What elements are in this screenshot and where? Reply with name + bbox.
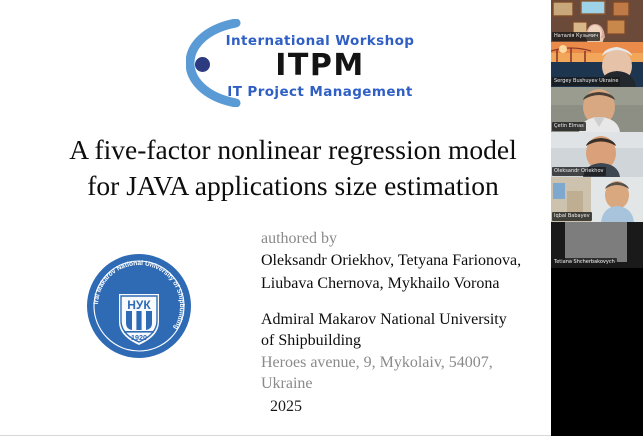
address-line-2: Ukraine [261,373,561,394]
author-names-line-1: Oleksandr Oriekhov, Tetyana Farionova, [261,250,561,271]
participant-name-label: Tetiana Shcherbakovych [552,258,617,267]
presentation-screen-share-view: International Workshop ITPM IT Project M… [0,0,643,436]
svg-text:НУК: НУК [127,298,151,312]
slide-title-line-2: for JAVA applications size estimation [14,168,572,204]
participant-tile[interactable]: Наталія Кузьмич [551,0,643,42]
itpm-dot-icon [195,57,210,72]
participant-name-label: Çetin Elmas [552,122,586,131]
itpm-tagline-bottom: IT Project Management [224,84,416,100]
block-spacer [261,294,561,309]
slide-title-line-1: A five-factor nonlinear regression model [14,132,572,168]
affiliation-line-2: of Shipbuilding [261,330,561,351]
itpm-acronym: ITPM [224,50,416,82]
participant-filmstrip[interactable]: Наталія Кузьмич Sergey Bushuyev Ukraine [551,0,643,268]
presentation-year: 2025 [270,398,302,416]
shared-slide: International Workshop ITPM IT Project M… [0,0,586,436]
author-affiliation-block: authored by Oleksandr Oriekhov, Tetyana … [261,228,561,395]
authored-by-label: authored by [261,228,561,249]
participant-name-label: Наталія Кузьмич [552,32,600,41]
participant-tile[interactable]: Çetin Elmas [551,87,643,132]
participant-name-label: Sergey Bushuyev Ukraine [552,77,620,86]
university-seal-icon: Admiral Makarov National University of S… [83,250,195,362]
participant-tile[interactable]: Oleksandr Oriekhov [551,132,643,177]
filmstrip-empty-area [551,268,643,436]
itpm-tagline-top: International Workshop [224,33,416,49]
address-line-1: Heroes avenue, 9, Mykolaiv, 54007, [261,352,561,373]
slide-title: A five-factor nonlinear regression model… [14,132,572,204]
author-names-line-2: Liubava Chernova, Mykhailo Vorona [261,273,561,294]
itpm-logo-text: International Workshop ITPM IT Project M… [224,19,416,107]
participant-name-label: Oleksandr Oriekhov [552,167,606,176]
participant-name-label: Iqbal Babayev [552,212,592,221]
svg-text:1920: 1920 [131,333,147,342]
participant-tile[interactable]: Tetiana Shcherbakovych [551,222,643,268]
affiliation-line-1: Admiral Makarov National University [261,309,561,330]
participant-tile[interactable]: Sergey Bushuyev Ukraine [551,42,643,87]
participant-tile[interactable]: Iqbal Babayev [551,177,643,222]
itpm-logo: International Workshop ITPM IT Project M… [186,19,416,109]
